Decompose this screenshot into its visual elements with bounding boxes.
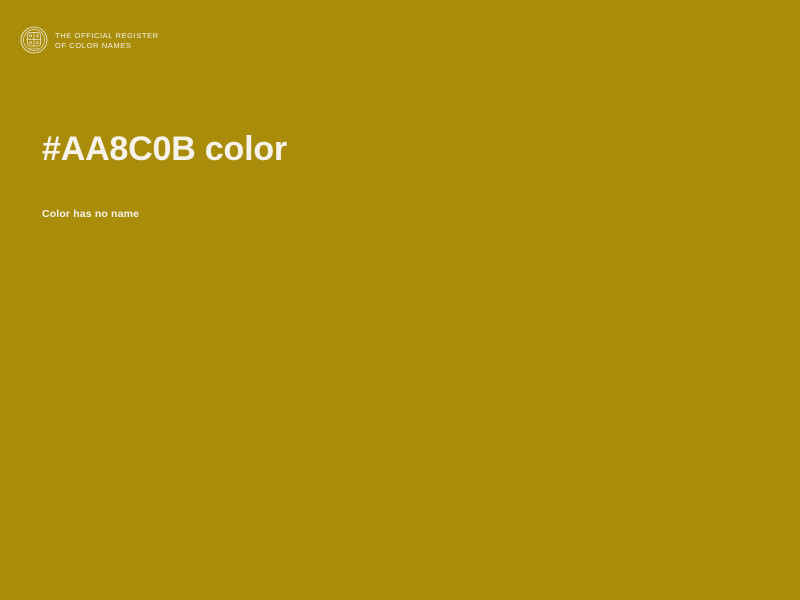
color-info: #AA8C0B color Color has no name (42, 126, 742, 221)
brand-wordmark: THE OFFICIAL REGISTER OF COLOR NAMES (55, 30, 159, 51)
color-name-status: Color has no name (42, 172, 742, 221)
brand-line-2: OF COLOR NAMES (55, 41, 159, 51)
brand-line-1: THE OFFICIAL REGISTER (55, 31, 159, 41)
brand-lockup[interactable]: THE OFFICIAL REGISTER OF COLOR NAMES (20, 26, 159, 54)
page-title: #AA8C0B color (42, 126, 742, 172)
register-seal-icon (20, 26, 48, 54)
color-page: THE OFFICIAL REGISTER OF COLOR NAMES #AA… (0, 0, 800, 600)
